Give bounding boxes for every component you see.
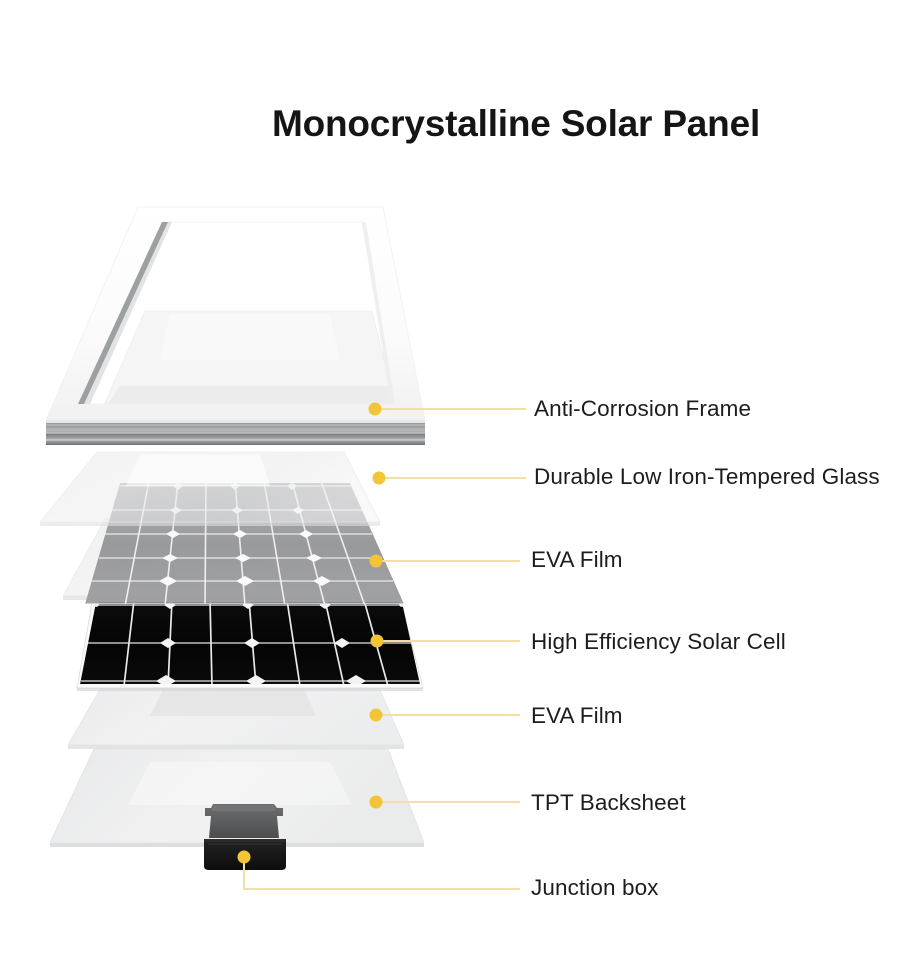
callout-dot-eva-film-bottom[interactable] [370, 709, 383, 722]
callout-label-tpt-backsheet: TPT Backsheet [531, 790, 686, 816]
callout-label-eva-film-bottom: EVA Film [531, 703, 623, 729]
callout-label-durable-low-iron-tempered-glass: Durable Low Iron-Tempered Glass [534, 464, 880, 490]
callout-label-eva-film-top: EVA Film [531, 547, 623, 573]
callout-label-anti-corrosion-frame: Anti-Corrosion Frame [534, 396, 751, 422]
callout-dot-anti-corrosion-frame[interactable] [369, 403, 382, 416]
callout-label-junction-box: Junction box [531, 875, 659, 901]
layer-tempered-glass [40, 452, 380, 526]
callout-label-high-efficiency-solar-cell: High Efficiency Solar Cell [531, 629, 786, 655]
callout-dot-junction-box[interactable] [238, 851, 251, 864]
layer-anti-corrosion-frame [46, 207, 425, 445]
callout-dot-high-efficiency-solar-cell[interactable] [371, 635, 384, 648]
cell-matrix-black [80, 600, 420, 687]
layer-high-efficiency-solar-cell [77, 598, 423, 691]
callout-dot-tpt-backsheet[interactable] [370, 796, 383, 809]
callout-dot-eva-film-top[interactable] [370, 555, 383, 568]
callout-dot-durable-low-iron-tempered-glass[interactable] [373, 472, 386, 485]
solar-panel-infographic: Monocrystalline Solar Panel [0, 0, 922, 960]
